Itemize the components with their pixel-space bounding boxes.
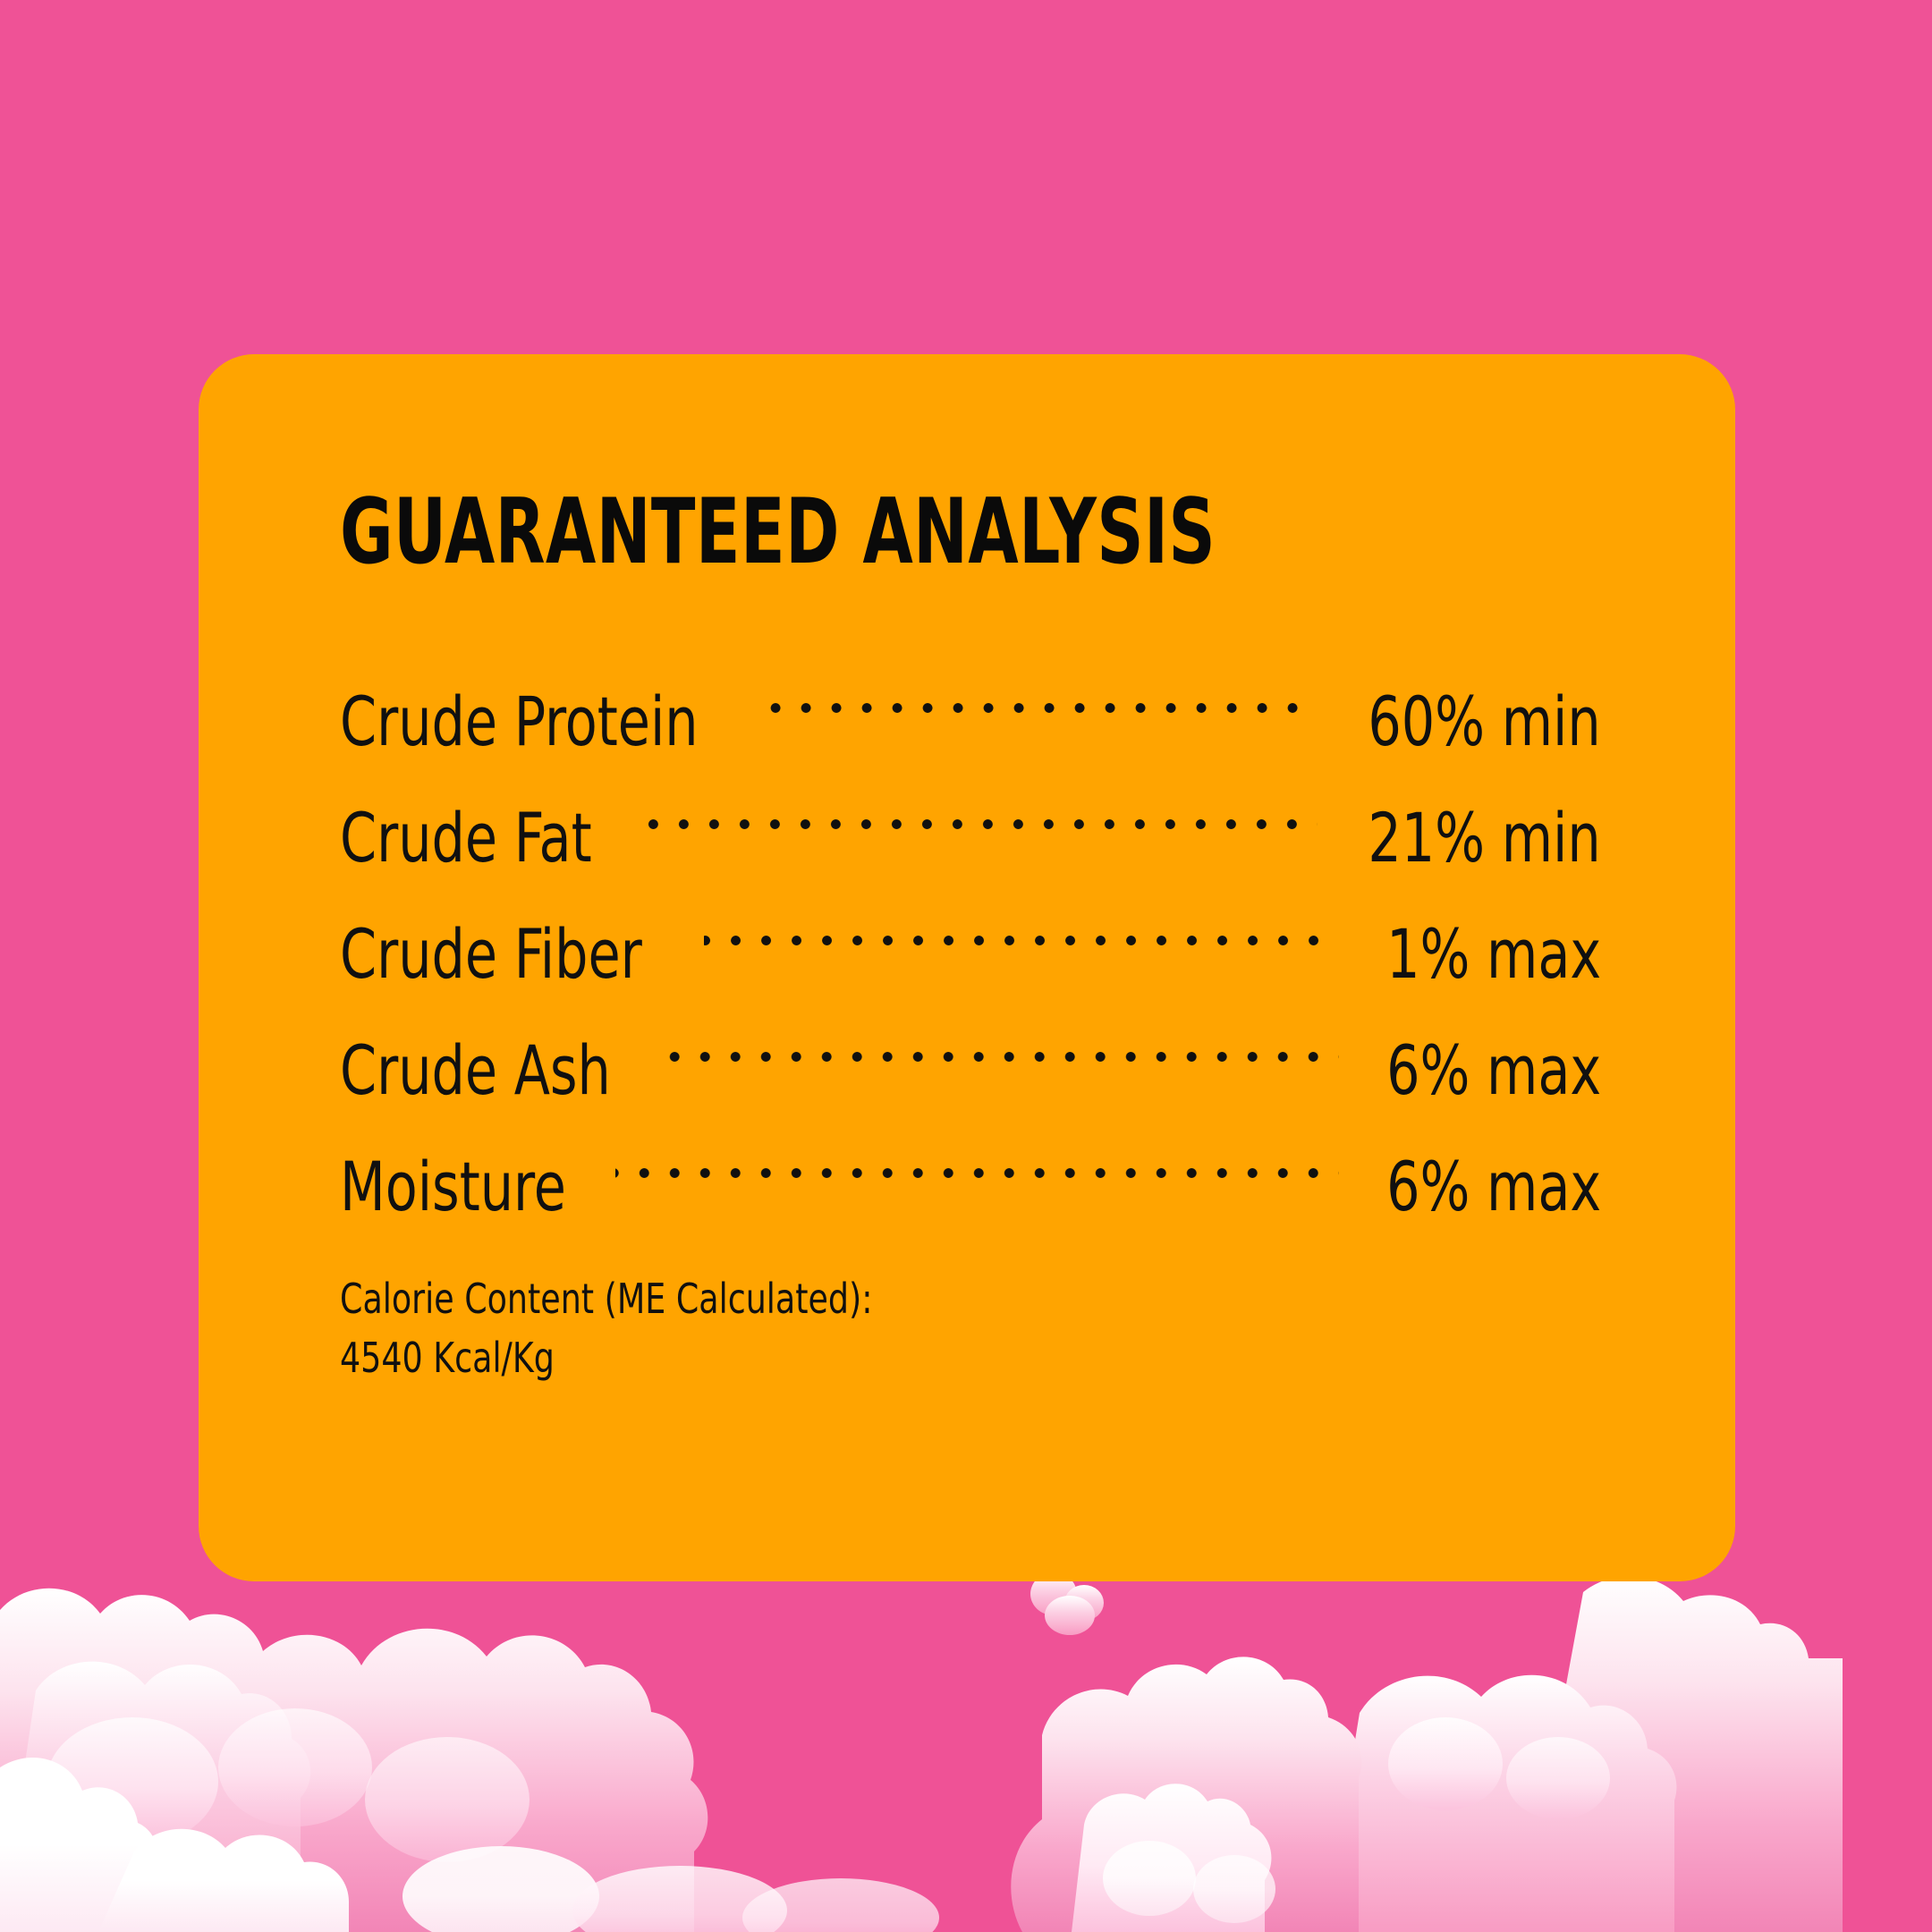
- table-row: Crude Protein 60% min: [340, 629, 1601, 745]
- dot-leader: [704, 861, 1339, 978]
- nutrient-label: Crude Fiber: [340, 896, 642, 1013]
- calorie-content-block: Calorie Content (ME Calculated): 4540 Kc…: [340, 1269, 1601, 1387]
- nutrient-value: 60% min: [1368, 664, 1601, 780]
- nutrient-value: 1% max: [1386, 896, 1601, 1013]
- nutrient-value: 6% max: [1386, 1129, 1601, 1245]
- calorie-content-value: 4540 Kcal/Kg: [340, 1328, 1450, 1387]
- page-title: GUARANTEED ANALYSIS: [340, 487, 1349, 577]
- nutrient-label: Crude Fat: [340, 780, 592, 896]
- card-content: GUARANTEED ANALYSIS Crude Protein 60% mi…: [340, 487, 1601, 1387]
- nutrient-value: 21% min: [1368, 780, 1601, 896]
- nutrient-label: Crude Ash: [340, 1013, 611, 1129]
- nutrient-value: 6% max: [1386, 1013, 1601, 1129]
- dot-leader: [645, 745, 1318, 861]
- nutrition-rows: Crude Protein 60% min Crude Fat 21% min …: [340, 629, 1601, 1210]
- guaranteed-analysis-card: GUARANTEED ANALYSIS Crude Protein 60% mi…: [199, 354, 1735, 1581]
- nutrient-label: Moisture: [340, 1129, 566, 1245]
- dot-leader: [667, 978, 1339, 1094]
- dot-leader: [615, 1094, 1339, 1210]
- dot-leader: [769, 629, 1318, 745]
- calorie-content-label: Calorie Content (ME Calculated):: [340, 1269, 1450, 1328]
